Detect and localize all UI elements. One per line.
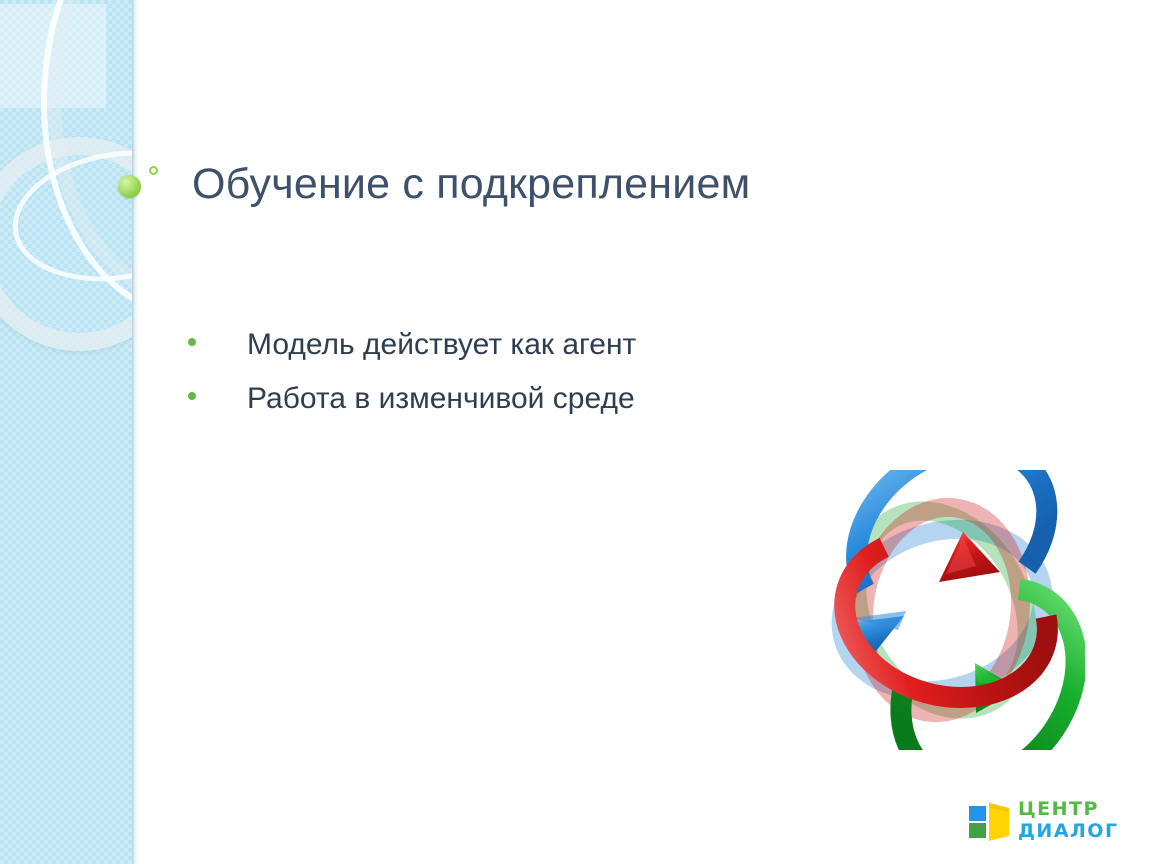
list-item-label: Модель действует как агент — [247, 328, 636, 362]
green-ring-accent-icon — [149, 166, 158, 175]
green-sphere-accent-icon — [118, 175, 141, 198]
list-item: Модель действует как агент — [188, 328, 948, 382]
bullet-list: Модель действует как агент Работа в изме… — [188, 328, 948, 436]
cycle-arrows-graphic — [800, 470, 1085, 750]
bullet-dot-icon — [188, 392, 196, 400]
decorative-sidebar — [0, 0, 132, 864]
logo-text: ЦЕНТР ДИАЛОГ — [1018, 800, 1119, 841]
bullet-dot-icon — [188, 338, 196, 346]
logo-line-center: ЦЕНТР — [1018, 800, 1119, 819]
logo: ЦЕНТР ДИАЛОГ — [968, 800, 1118, 848]
sidebar-edge-shadow — [132, 0, 139, 864]
green-arrow-icon — [868, 577, 1085, 750]
slide: Обучение с подкреплением Модель действуе… — [0, 0, 1150, 864]
logo-mark-icon — [968, 803, 1010, 841]
list-item-label: Работа в изменчивой среде — [247, 382, 635, 416]
list-item: Работа в изменчивой среде — [188, 382, 948, 436]
page-title: Обучение с подкреплением — [192, 160, 750, 209]
logo-line-dialog: ДИАЛОГ — [1018, 822, 1119, 841]
